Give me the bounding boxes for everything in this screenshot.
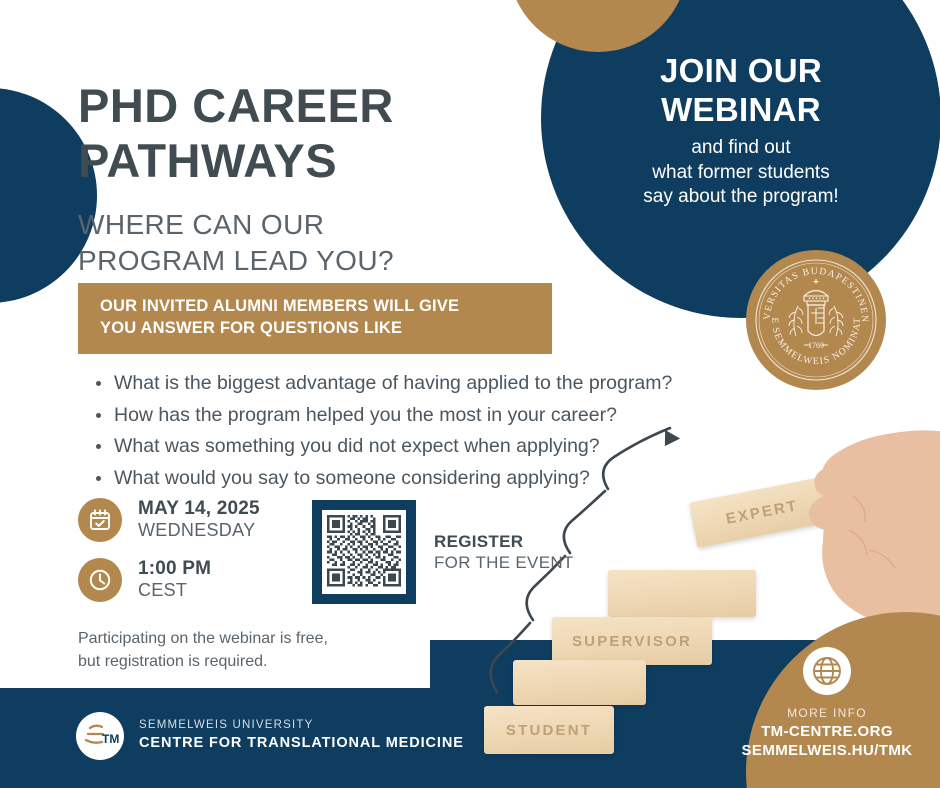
webinar-callout: JOIN OUR WEBINAR and find out what forme… xyxy=(560,52,922,210)
subtitle-line-1: WHERE CAN OUR xyxy=(78,207,394,243)
event-timezone: CEST xyxy=(138,580,211,602)
list-item: What would you say to someone considerin… xyxy=(114,463,672,495)
seal-emblem-icon: UNIVERSITAS BUDAPESTINENSIS DE SEMMELWEI… xyxy=(746,250,886,390)
more-info-label: MORE INFO xyxy=(732,705,922,722)
footer-centre-name: CENTRE FOR TRANSLATIONAL MEDICINE xyxy=(139,734,464,754)
wood-block-expert: EXPERT xyxy=(689,476,835,548)
more-info-block: MORE INFO TM-CENTRE.ORG SEMMELWEIS.HU/TM… xyxy=(732,647,922,760)
webinar-sub-line-2: what former students xyxy=(560,161,922,186)
tm-logo-text: TM xyxy=(102,732,119,746)
tm-logo: TM xyxy=(76,712,124,760)
page-title-line-1: PHD CAREER xyxy=(78,78,394,133)
event-date-row: MAY 14, 2025 WEDNESDAY xyxy=(78,498,260,542)
webinar-heading-line-1: JOIN OUR xyxy=(560,52,922,91)
event-date: MAY 14, 2025 xyxy=(138,498,260,520)
hand-illustration xyxy=(795,400,940,630)
globe-icon xyxy=(803,647,851,695)
participation-note: Participating on the webinar is free, bu… xyxy=(78,627,328,673)
list-item: What was something you did not expect wh… xyxy=(114,431,672,463)
register-callout: REGISTER FOR THE EVENT xyxy=(434,531,574,574)
register-label: REGISTER xyxy=(434,531,574,552)
university-seal: UNIVERSITAS BUDAPESTINENSIS DE SEMMELWEI… xyxy=(746,250,886,390)
event-time-row: 1:00 PM CEST xyxy=(78,558,211,602)
list-item: What is the biggest advantage of having … xyxy=(114,368,672,400)
register-sublabel: FOR THE EVENT xyxy=(434,552,574,573)
event-weekday: WEDNESDAY xyxy=(138,520,260,542)
question-list: What is the biggest advantage of having … xyxy=(88,368,672,494)
qr-code-image xyxy=(322,510,406,594)
seal-year: 1769 xyxy=(808,341,824,350)
alumni-banner-line-1: OUR INVITED ALUMNI MEMBERS WILL GIVE xyxy=(100,296,532,318)
qr-code[interactable] xyxy=(312,500,416,604)
wood-block-plain-upper xyxy=(608,570,756,617)
more-info-url-2[interactable]: SEMMELWEIS.HU/TMK xyxy=(732,741,922,760)
calendar-icon xyxy=(78,498,122,542)
subtitle-line-2: PROGRAM LEAD YOU? xyxy=(78,243,394,279)
footer-branding: TM SEMMELWEIS UNIVERSITY CENTRE FOR TRAN… xyxy=(76,712,464,760)
clock-icon xyxy=(78,558,122,602)
webinar-heading-line-2: WEBINAR xyxy=(560,91,922,130)
page-title-line-2: PATHWAYS xyxy=(78,133,394,188)
footer-university-name: SEMMELWEIS UNIVERSITY xyxy=(139,718,464,734)
webinar-sub-line-3: say about the program! xyxy=(560,185,922,210)
webinar-sub-line-1: and find out xyxy=(560,136,922,161)
headline-block: PHD CAREER PATHWAYS WHERE CAN OUR PROGRA… xyxy=(78,78,394,280)
event-time: 1:00 PM xyxy=(138,558,211,580)
alumni-banner: OUR INVITED ALUMNI MEMBERS WILL GIVE YOU… xyxy=(78,283,552,354)
participation-note-line-2: but registration is required. xyxy=(78,650,328,673)
more-info-url-1[interactable]: TM-CENTRE.ORG xyxy=(732,722,922,741)
tm-logo-icon: TM xyxy=(81,719,119,753)
alumni-banner-line-2: YOU ANSWER FOR QUESTIONS LIKE xyxy=(100,318,532,340)
list-item: How has the program helped you the most … xyxy=(114,400,672,432)
participation-note-line-1: Participating on the webinar is free, xyxy=(78,627,328,650)
poster-canvas: PHD CAREER PATHWAYS WHERE CAN OUR PROGRA… xyxy=(0,0,940,788)
